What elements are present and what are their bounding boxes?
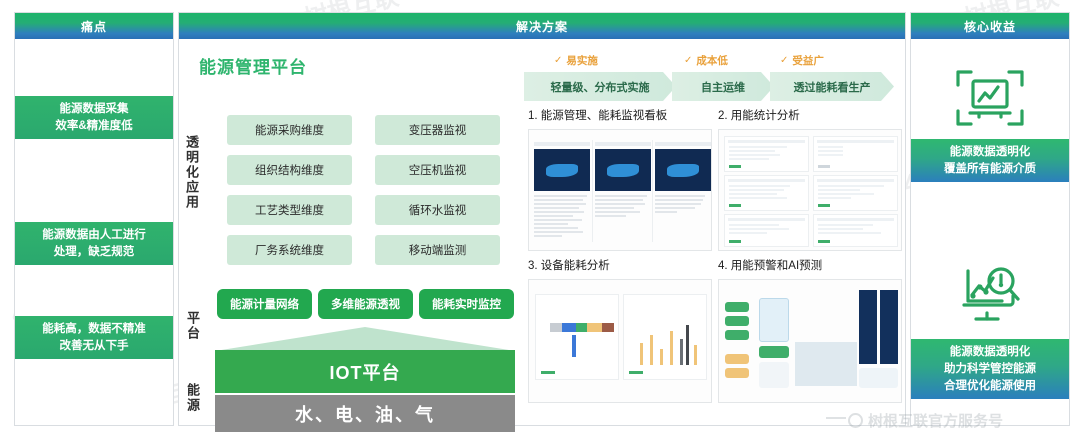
dimension-chip[interactable]: 工艺类型维度 xyxy=(227,195,352,225)
chevron-step[interactable]: 自主运维 xyxy=(672,72,774,101)
iot-platform-bar: IOT平台 xyxy=(215,350,515,393)
screenshot-thumbnail-device-analysis[interactable] xyxy=(528,279,712,403)
vertical-label-transparent-application: 透明化应用 xyxy=(185,135,198,210)
check-icon: ✓ xyxy=(684,55,692,66)
check-icon: ✓ xyxy=(554,55,562,66)
pain-point-card: 能耗高，数据不精准改善无从下手 xyxy=(15,316,173,359)
solution-panel: 解决方案 能源管理平台 透明化应用 平台 能源 能源采购维度 组织结构维度 工艺… xyxy=(178,12,906,426)
brand-logo-icon xyxy=(848,413,863,428)
chevron-step[interactable]: 轻量级、分布式实施 xyxy=(524,72,676,101)
stack-roof-shape xyxy=(215,327,515,351)
capability-chip-label: 能耗实时监控 xyxy=(432,296,501,312)
screenshot-caption: 1. 能源管理、能耗监视看板 xyxy=(528,107,667,123)
capability-chip[interactable]: 能源计量网络 xyxy=(217,289,312,319)
dimension-chip[interactable]: 移动端监测 xyxy=(375,235,500,265)
dimension-chip[interactable]: 循环水监视 xyxy=(375,195,500,225)
pain-point-card: 能源数据由人工进行处理，缺乏规范 xyxy=(15,222,173,265)
vertical-label-platform: 平台 xyxy=(186,311,199,341)
pain-point-text: 能耗高，数据不精准改善无从下手 xyxy=(42,321,146,355)
solution-body: 能源管理平台 透明化应用 平台 能源 能源采购维度 组织结构维度 工艺类型维度 … xyxy=(179,39,905,425)
pain-point-text: 能源数据采集效率&精准度低 xyxy=(55,101,132,135)
footer-watermark: 树根互联官方服务号 xyxy=(848,410,1003,431)
platform-title: 能源管理平台 xyxy=(199,53,307,78)
capability-chip-label: 多维能源透视 xyxy=(331,296,400,312)
benefit-card: 能源数据透明化助力科学管控能源合理优化能源使用 xyxy=(911,339,1069,399)
footer-rule xyxy=(826,417,846,419)
iot-platform-label: IOT平台 xyxy=(330,359,401,385)
benefit-card-text: 能源数据透明化覆盖所有能源介质 xyxy=(944,144,1036,178)
pain-point-text: 能源数据由人工进行处理，缺乏规范 xyxy=(42,227,146,261)
monitor-analytics-search-icon xyxy=(954,261,1026,327)
footer-watermark-text: 树根互联官方服务号 xyxy=(868,410,1003,431)
energy-sources-label: 水、电、油、气 xyxy=(295,401,435,427)
scan-monitor-chart-icon xyxy=(954,65,1026,131)
capability-chip[interactable]: 能耗实时监控 xyxy=(419,289,514,319)
dimension-chip-label: 能源采购维度 xyxy=(255,122,324,138)
chevron-tag-label: 成本低 xyxy=(696,53,728,68)
check-icon: ✓ xyxy=(780,55,788,66)
core-benefits-panel: 核心收益 能源数据透明化覆盖所有能源介质 xyxy=(910,12,1070,426)
dimension-chip[interactable]: 变压器监视 xyxy=(375,115,500,145)
core-benefits-title: 核心收益 xyxy=(964,18,1016,35)
core-benefits-header: 核心收益 xyxy=(911,13,1069,39)
infographic-canvas: 400-868-1122 树根互联 400-868-1122 树根互联 400-… xyxy=(0,0,1081,439)
dimension-chip-label: 工艺类型维度 xyxy=(255,202,324,218)
capability-chip[interactable]: 多维能源透视 xyxy=(318,289,413,319)
pain-point-card: 能源数据采集效率&精准度低 xyxy=(15,96,173,139)
screenshot-caption: 3. 设备能耗分析 xyxy=(528,257,610,273)
dimension-chip[interactable]: 空压机监视 xyxy=(375,155,500,185)
dimension-chip[interactable]: 厂务系统维度 xyxy=(227,235,352,265)
chevron-step-label: 透过能耗看生产 xyxy=(794,79,871,95)
chevron-tag: ✓ 成本低 xyxy=(684,53,728,68)
screenshot-thumbnail-statistics[interactable] xyxy=(718,129,902,251)
chevron-step[interactable]: 透过能耗看生产 xyxy=(770,72,894,101)
dimension-chip[interactable]: 组织结构维度 xyxy=(227,155,352,185)
benefit-card-text: 能源数据透明化助力科学管控能源合理优化能源使用 xyxy=(944,344,1036,395)
solution-header: 解决方案 xyxy=(179,13,905,39)
pain-points-body: 能源数据采集效率&精准度低 能源数据由人工进行处理，缺乏规范 能耗高，数据不精准… xyxy=(15,39,173,425)
core-benefits-body: 能源数据透明化覆盖所有能源介质 xyxy=(911,39,1069,425)
chevron-step-label: 自主运维 xyxy=(701,79,745,95)
dimension-chip-label: 空压机监视 xyxy=(409,162,467,178)
vertical-label-energy: 能源 xyxy=(186,383,199,413)
pain-points-panel: 痛点 能源数据采集效率&精准度低 能源数据由人工进行处理，缺乏规范 能耗高，数据… xyxy=(14,12,174,426)
screenshot-caption: 2. 用能统计分析 xyxy=(718,107,800,123)
chevron-strip: 轻量级、分布式实施 自主运维 透过能耗看生产 ✓ 易实施 ✓ 成本低 ✓ xyxy=(524,53,894,101)
chevron-tag-label: 易实施 xyxy=(566,53,598,68)
energy-sources-bar: 水、电、油、气 xyxy=(215,395,515,432)
screenshot-thumbnail-dashboard[interactable] xyxy=(528,129,712,251)
dimension-chip-label: 厂务系统维度 xyxy=(255,242,324,258)
dimension-chip-label: 循环水监视 xyxy=(409,202,467,218)
benefit-card: 能源数据透明化覆盖所有能源介质 xyxy=(911,139,1069,182)
chevron-step-label: 轻量级、分布式实施 xyxy=(551,79,650,95)
solution-title: 解决方案 xyxy=(516,18,568,35)
screenshot-thumbnail-ai-prediction[interactable] xyxy=(718,279,902,403)
pain-points-title: 痛点 xyxy=(81,18,107,35)
chevron-tag: ✓ 易实施 xyxy=(554,53,598,68)
chevron-tag: ✓ 受益广 xyxy=(780,53,824,68)
capability-chip-label: 能源计量网络 xyxy=(230,296,299,312)
chevron-tag-label: 受益广 xyxy=(792,53,824,68)
dimension-chip-label: 组织结构维度 xyxy=(255,162,324,178)
screenshot-caption: 4. 用能预警和AI预测 xyxy=(718,257,822,273)
dimension-chip-label: 移动端监测 xyxy=(409,242,467,258)
dimension-chip[interactable]: 能源采购维度 xyxy=(227,115,352,145)
dimension-chip-label: 变压器监视 xyxy=(409,122,467,138)
pain-points-header: 痛点 xyxy=(15,13,173,39)
